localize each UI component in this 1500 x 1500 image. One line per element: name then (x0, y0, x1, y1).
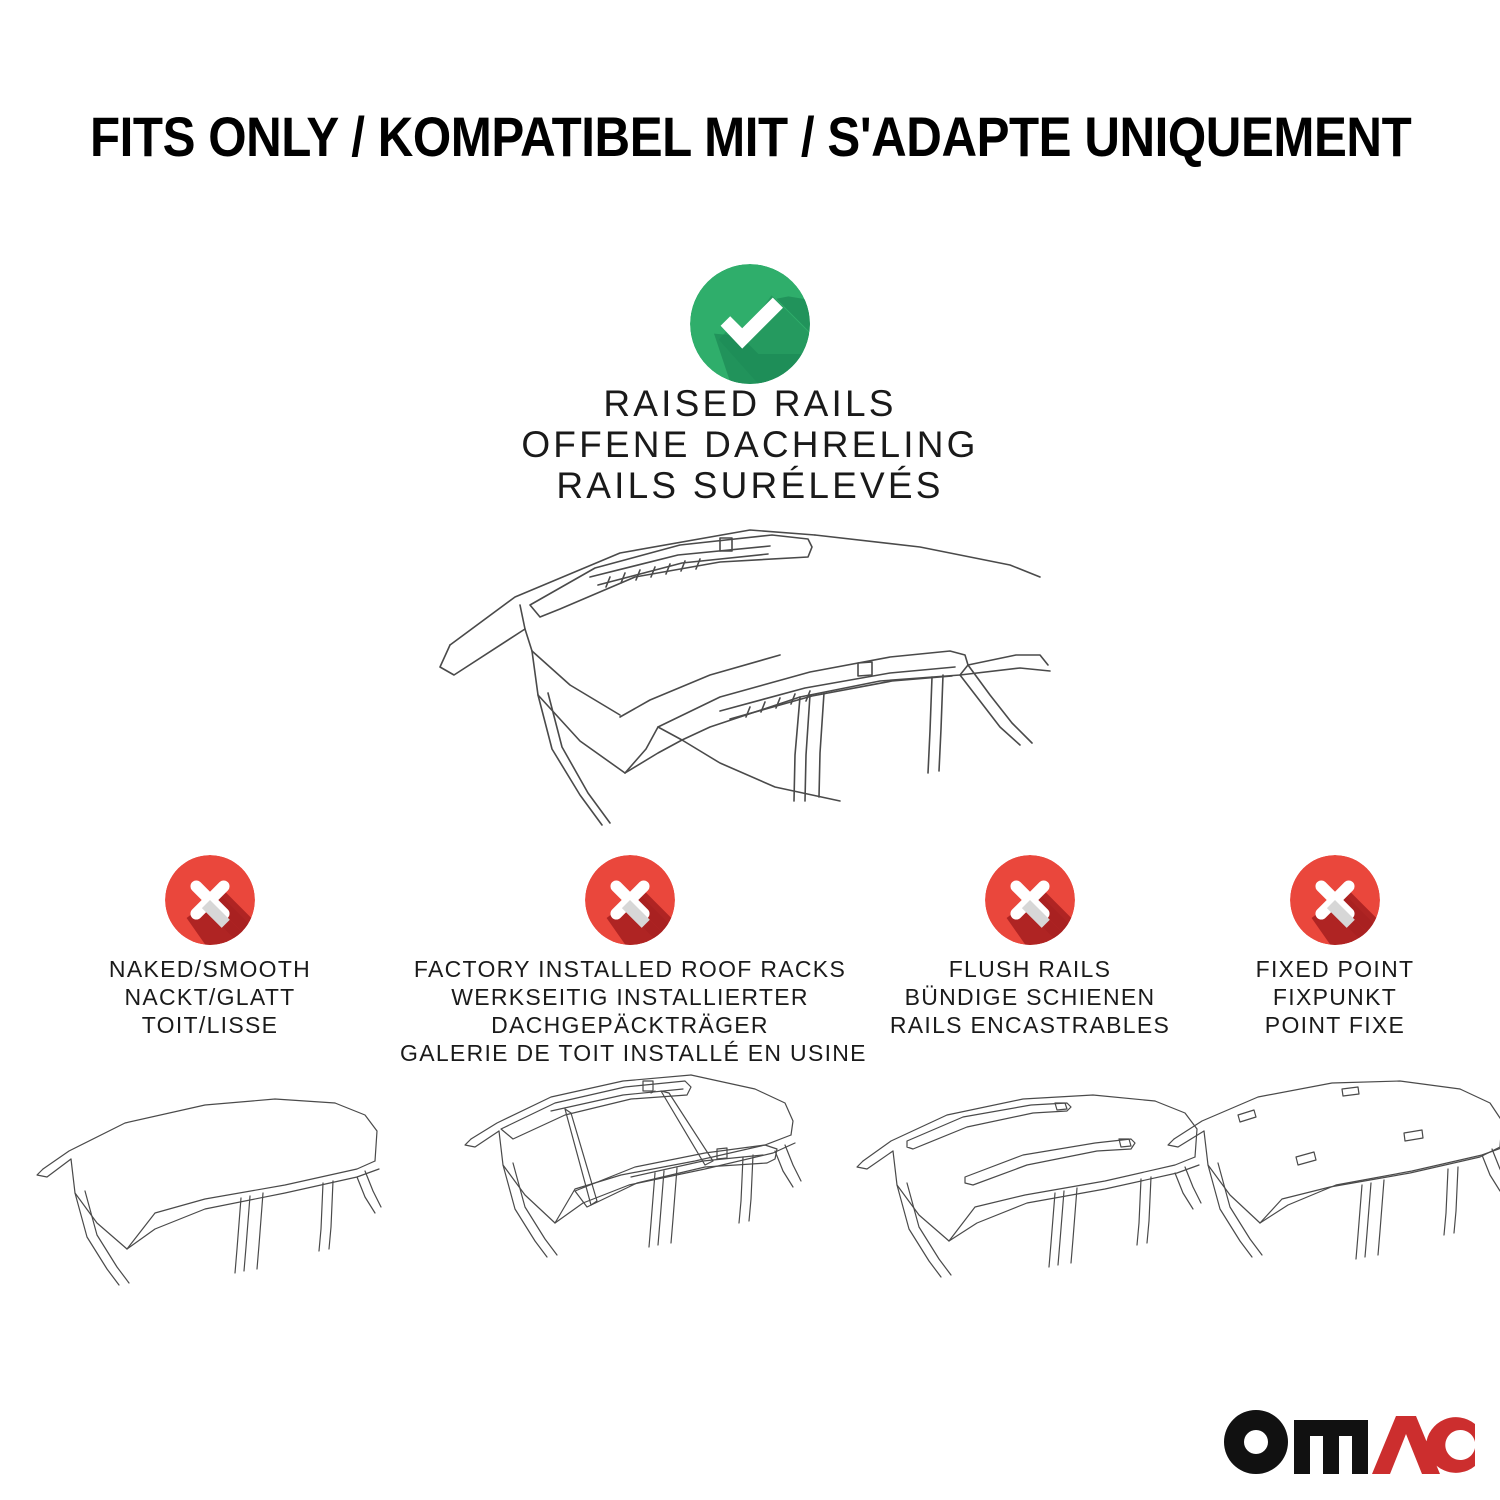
car-roof-raised-rails-illustration (420, 505, 1080, 835)
green-check-circle-icon (690, 264, 810, 384)
incompatible-caption: FLUSH RAILS BÜNDIGE SCHIENEN RAILS ENCAS… (855, 955, 1205, 1039)
caption-line-3: POINT FIXE (1165, 1011, 1500, 1039)
car-roof-flush-rails-illustration (855, 1073, 1205, 1313)
caption-line-3: RAILS ENCASTRABLES (855, 1011, 1205, 1039)
car-roof-factory-racks-illustration (455, 1073, 805, 1313)
incompatible-caption: FIXED POINT FIXPUNKT POINT FIXE (1165, 955, 1500, 1039)
caption-line-3: DACHGEPÄCKTRÄGER (400, 1011, 860, 1039)
caption-line-1: FLUSH RAILS (855, 955, 1205, 983)
caption-line-4: GALERIE DE TOIT INSTALLÉ EN USINE (400, 1039, 860, 1067)
fitment-infographic: FITS ONLY / KOMPATIBEL MIT / S'ADAPTE UN… (0, 0, 1500, 1500)
incompatible-caption: FACTORY INSTALLED ROOF RACKS WERKSEITIG … (400, 955, 860, 1067)
compatible-label-de: OFFENE DACHRELING (0, 424, 1500, 465)
omac-logo-letter-o (1224, 1410, 1288, 1474)
caption-line-3: TOIT/LISSE (35, 1011, 385, 1039)
caption-line-1: FIXED POINT (1165, 955, 1500, 983)
caption-line-2: FIXPUNKT (1165, 983, 1500, 1011)
incompatible-caption: NAKED/SMOOTH NACKT/GLATT TOIT/LISSE (35, 955, 385, 1039)
caption-line-2: WERKSEITIG INSTALLIERTER (400, 983, 860, 1011)
caption-line-2: BÜNDIGE SCHIENEN (855, 983, 1205, 1011)
omac-logo-letter-m (1294, 1420, 1368, 1474)
red-x-circle-icon (1290, 855, 1380, 945)
page-title: FITS ONLY / KOMPATIBEL MIT / S'ADAPTE UN… (90, 104, 1410, 169)
red-x-circle-icon (985, 855, 1075, 945)
caption-line-1: NAKED/SMOOTH (35, 955, 385, 983)
car-roof-fixed-point-illustration (1160, 1073, 1500, 1313)
compatible-label-en: RAISED RAILS (0, 383, 1500, 424)
car-roof-naked-smooth-illustration (35, 1073, 385, 1313)
red-x-circle-icon (165, 855, 255, 945)
caption-line-2: NACKT/GLATT (35, 983, 385, 1011)
compatible-label-fr: RAILS SURÉLEVÉS (0, 465, 1500, 506)
red-x-circle-icon (585, 855, 675, 945)
caption-line-1: FACTORY INSTALLED ROOF RACKS (400, 955, 860, 983)
omac-logo (1220, 1406, 1475, 1478)
compatible-labels: RAISED RAILS OFFENE DACHRELING RAILS SUR… (0, 383, 1500, 506)
